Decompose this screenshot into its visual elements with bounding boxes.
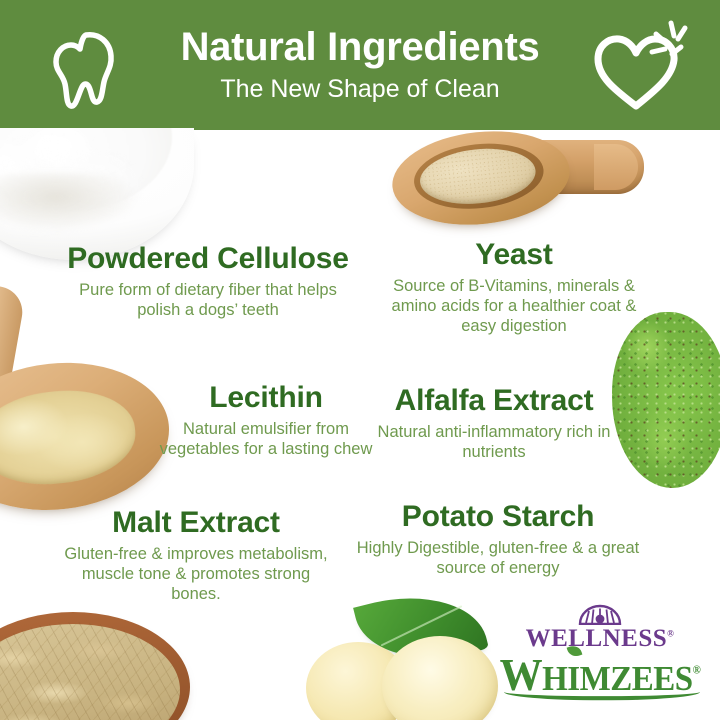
ingredient-title: Malt Extract <box>62 508 330 539</box>
brand-wellness-text: WELLNESS <box>526 625 668 652</box>
logo-swoosh <box>504 683 700 700</box>
registered-mark: ® <box>667 629 674 639</box>
ingredient-yeast: Yeast Source of B-Vitamins, minerals & a… <box>386 240 642 336</box>
ingredient-description: Natural anti-inflammatory rich in nutrie… <box>358 422 630 462</box>
brand-wellness-wordmark: WELLNESS® <box>497 626 703 651</box>
ingredient-lecithin: Lecithin Natural emulsifier from vegetab… <box>150 383 382 459</box>
tooth-icon <box>42 25 128 111</box>
image-wooden-scoop-yeast <box>392 128 644 234</box>
registered-mark: ® <box>693 664 701 677</box>
ingredient-potato-starch: Potato Starch Highly Digestible, gluten-… <box>352 502 644 578</box>
image-sliced-potatoes <box>318 598 508 720</box>
scoop-inner <box>411 138 547 215</box>
image-barley-bowl <box>0 612 190 720</box>
brand-whimzees-wordmark: WHIMZEES® <box>500 653 701 699</box>
ingredient-title: Yeast <box>386 240 642 271</box>
ingredient-description: Source of B-Vitamins, minerals & amino a… <box>386 276 642 336</box>
image-white-powder-bowl <box>0 128 194 260</box>
ingredient-title: Powdered Cellulose <box>58 244 358 275</box>
infographic-canvas: Natural Ingredients The New Shape of Cle… <box>0 0 720 720</box>
ingredient-title: Alfalfa Extract <box>358 386 630 417</box>
spoon-well <box>0 370 155 503</box>
heart-sparkle-icon <box>582 14 690 118</box>
banner-text-group: Natural Ingredients The New Shape of Cle… <box>181 27 540 102</box>
ingredient-description: Pure form of dietary fiber that helps po… <box>58 280 358 320</box>
brand-logo: WELLNESS® WHIMZEES® <box>497 604 703 700</box>
ingredient-title: Lecithin <box>150 383 382 414</box>
lecithin-powder <box>0 383 140 491</box>
ingredient-description: Natural emulsifier from vegetables for a… <box>150 419 382 459</box>
ingredient-description: Gluten-free & improves metabolism, muscl… <box>62 544 330 604</box>
page-subtitle: The New Shape of Clean <box>181 77 540 102</box>
ingredient-title: Potato Starch <box>352 502 644 533</box>
header-banner: Natural Ingredients The New Shape of Cle… <box>0 0 720 130</box>
ingredient-alfalfa-extract: Alfalfa Extract Natural anti-inflammator… <box>358 386 630 462</box>
ingredient-malt-extract: Malt Extract Gluten-free & improves meta… <box>62 508 330 604</box>
sunburst-icon <box>578 604 622 625</box>
yeast-granules <box>417 143 538 209</box>
page-title: Natural Ingredients <box>181 27 540 67</box>
ingredient-powdered-cellulose: Powdered Cellulose Pure form of dietary … <box>58 244 358 320</box>
powder-shadow <box>0 174 140 232</box>
ingredient-description: Highly Digestible, gluten-free & a great… <box>352 538 644 578</box>
